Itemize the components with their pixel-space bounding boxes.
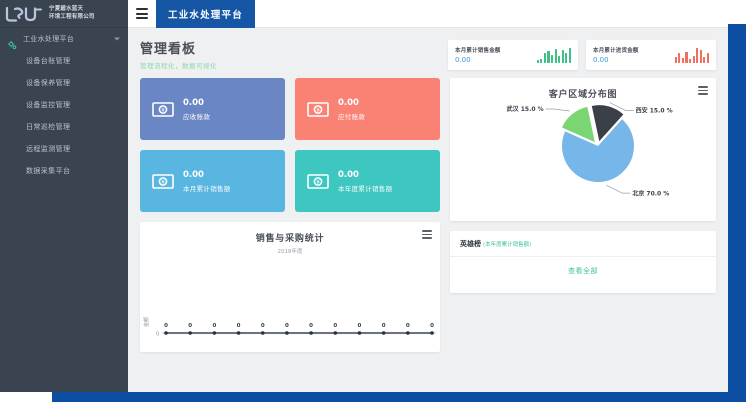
stat-card-payable[interactable]: ¥ 0.00 应付账款 — [295, 78, 440, 140]
data-point[interactable] — [188, 331, 192, 335]
svg-text:¥: ¥ — [316, 107, 320, 114]
pie-label-西安: 西安 15.0 % — [636, 107, 673, 115]
banknote-icon: ¥ — [307, 174, 329, 189]
data-point-label: 0 — [212, 323, 216, 329]
page-title: 管理看板 — [140, 38, 217, 57]
company-name: 宁夏碧水蓝天 环境工程有限公司 — [49, 6, 95, 21]
stat-card-text: 0.00 本年度累计销售额 — [338, 170, 392, 193]
page-header-row: 管理看板 管理流程化，数据可视化 本月累计销售金额 0.00 — [140, 38, 716, 70]
sidebar-group-water-platform[interactable]: 工业水处理平台 — [0, 28, 128, 50]
rank-panel-header: 英雄榜 (本年度累计销售额) — [450, 231, 716, 257]
hero-ranking-panel: 英雄榜 (本年度累计销售额) 查看全部 — [450, 231, 716, 293]
y-axis-label: 金额 — [143, 317, 150, 327]
top-bar: 工业水处理平台 — [128, 0, 728, 28]
y-tick-0: 0 — [156, 332, 160, 338]
data-point[interactable] — [430, 331, 434, 335]
sidebar-nav-list: 设备台账管理 设备保养管理 设备监控管理 日常巡检管理 远程监测管理 数据采集平… — [0, 50, 128, 182]
chart-subtitle: 2018年度 — [140, 247, 440, 255]
stat-card-text: 0.00 应付账款 — [338, 98, 365, 121]
stat-card-label: 本月累计销售额 — [183, 183, 231, 193]
line-chart-canvas: 金额0000000000000 — [140, 255, 440, 347]
rank-panel-subtitle: (本年度累计销售额) — [483, 240, 531, 248]
chart-title: 销售与采购统计 — [140, 222, 440, 244]
data-point[interactable] — [382, 331, 386, 335]
pie-label-武汉: 武汉 15.0 % — [507, 105, 544, 113]
sidebar-item-data-collection[interactable]: 数据采集平台 — [0, 160, 128, 182]
data-point[interactable] — [358, 331, 362, 335]
right-column: 客户区域分布图 北京 70.0 %武汉 15.0 %西安 15.0 % 英雄榜 … — [450, 78, 716, 352]
data-point-label: 0 — [406, 323, 410, 329]
view-all-link[interactable]: 查看全部 — [450, 257, 716, 276]
hamburger-icon[interactable] — [134, 6, 150, 22]
stat-card-value: 0.00 — [338, 98, 365, 109]
pie-leader-line — [606, 185, 630, 193]
main-area: 工业水处理平台 管理看板 管理流程化，数据可视化 本月累计销售金额 0.00 — [128, 0, 728, 392]
banknote-icon: ¥ — [152, 174, 174, 189]
sidebar: 宁夏碧水蓝天 环境工程有限公司 工业水处理平台 设备台账管理 — [0, 0, 128, 392]
stat-card-label: 应收账款 — [183, 111, 210, 121]
mini-card-month-purchase-amount[interactable]: 本月累计进货金额 0.00 — [586, 40, 716, 70]
data-point[interactable] — [285, 331, 289, 335]
sidebar-group-label: 工业水处理平台 — [23, 34, 74, 44]
data-point-label: 0 — [285, 323, 289, 329]
stat-card-text: 0.00 本月累计销售额 — [183, 170, 231, 193]
sidebar-item-equipment-ledger[interactable]: 设备台账管理 — [0, 50, 128, 72]
company-logo-header: 宁夏碧水蓝天 环境工程有限公司 — [0, 0, 128, 28]
banknote-icon: ¥ — [152, 102, 174, 117]
stat-card-grid: ¥ 0.00 应收账款 — [140, 78, 440, 212]
stat-card-receivable[interactable]: ¥ 0.00 应收账款 — [140, 78, 285, 140]
data-point-label: 0 — [164, 323, 168, 329]
pie-chart-canvas: 北京 70.0 %武汉 15.0 %西安 15.0 % — [450, 98, 716, 198]
dashboard-content: 管理看板 管理流程化，数据可视化 本月累计销售金额 0.00 — [128, 28, 728, 392]
stat-card-text: 0.00 应收账款 — [183, 98, 210, 121]
mini-card-value: 0.00 — [455, 56, 501, 64]
pie-label-北京: 北京 70.0 % — [632, 189, 669, 197]
data-point-label: 0 — [333, 323, 337, 329]
data-point-label: 0 — [309, 323, 313, 329]
hamburger-menu-icon[interactable] — [698, 86, 708, 95]
chevron-down-icon[interactable] — [114, 38, 120, 41]
application-window: 宁夏碧水蓝天 环境工程有限公司 工业水处理平台 设备台账管理 — [0, 0, 728, 392]
data-point-label: 0 — [237, 323, 241, 329]
svg-text:¥: ¥ — [316, 179, 320, 186]
page-heading-block: 管理看板 管理流程化，数据可视化 — [140, 38, 217, 70]
customer-region-pie-panel: 客户区域分布图 北京 70.0 %武汉 15.0 %西安 15.0 % — [450, 78, 716, 221]
sidebar-item-equipment-maintenance[interactable]: 设备保养管理 — [0, 72, 128, 94]
sparkline-purchase — [675, 48, 709, 63]
chart-title: 客户区域分布图 — [450, 78, 716, 100]
mini-card-title: 本月累计进货金额 — [593, 46, 639, 54]
data-point-label: 0 — [188, 323, 192, 329]
stat-card-label: 本年度累计销售额 — [338, 183, 392, 193]
tab-water-platform[interactable]: 工业水处理平台 — [156, 0, 255, 28]
sidebar-item-remote-monitoring[interactable]: 远程监测管理 — [0, 138, 128, 160]
left-column: ¥ 0.00 应收账款 — [140, 78, 440, 352]
sales-purchase-chart-panel: 销售与采购统计 2018年度 金额0000000000000 — [140, 222, 440, 352]
mini-card-month-sales-amount[interactable]: 本月累计销售金额 0.00 — [448, 40, 578, 70]
stat-card-value: 0.00 — [338, 170, 392, 181]
mini-card-text: 本月累计销售金额 0.00 — [455, 46, 501, 64]
hamburger-menu-icon[interactable] — [422, 230, 432, 239]
data-point[interactable] — [237, 331, 241, 335]
pie-leader-line — [546, 109, 570, 111]
stat-card-year-sales[interactable]: ¥ 0.00 本年度累计销售额 — [295, 150, 440, 212]
data-point[interactable] — [406, 331, 410, 335]
data-point-label: 0 — [382, 323, 386, 329]
data-point[interactable] — [213, 331, 217, 335]
page-subtitle: 管理流程化，数据可视化 — [140, 60, 217, 70]
screenshot-root: 宁夏碧水蓝天 环境工程有限公司 工业水处理平台 设备台账管理 — [0, 0, 746, 418]
company-logo-icon — [4, 5, 44, 23]
dashboard-body: ¥ 0.00 应收账款 — [140, 78, 716, 352]
stat-card-label: 应付账款 — [338, 111, 365, 121]
sparkline-sales — [537, 48, 571, 63]
data-point[interactable] — [261, 331, 265, 335]
data-point[interactable] — [164, 331, 168, 335]
data-point-label: 0 — [261, 323, 265, 329]
svg-text:¥: ¥ — [161, 107, 165, 114]
data-point[interactable] — [333, 331, 337, 335]
mini-card-value: 0.00 — [593, 56, 639, 64]
sidebar-item-daily-inspection[interactable]: 日常巡检管理 — [0, 116, 128, 138]
mini-stat-cards: 本月累计销售金额 0.00 本月累计进货金额 0.00 — [448, 40, 716, 70]
stat-card-month-sales[interactable]: ¥ 0.00 本月累计销售额 — [140, 150, 285, 212]
mini-card-text: 本月累计进货金额 0.00 — [593, 46, 639, 64]
data-point-label: 0 — [358, 323, 362, 329]
gears-icon — [8, 35, 17, 44]
stat-card-value: 0.00 — [183, 170, 231, 181]
rank-panel-title: 英雄榜 — [460, 239, 481, 249]
sidebar-item-equipment-monitoring[interactable]: 设备监控管理 — [0, 94, 128, 116]
mini-card-title: 本月累计销售金额 — [455, 46, 501, 54]
banknote-icon: ¥ — [307, 102, 329, 117]
data-point[interactable] — [309, 331, 313, 335]
data-point-label: 0 — [430, 323, 434, 329]
stat-card-value: 0.00 — [183, 98, 210, 109]
svg-text:¥: ¥ — [161, 179, 165, 186]
